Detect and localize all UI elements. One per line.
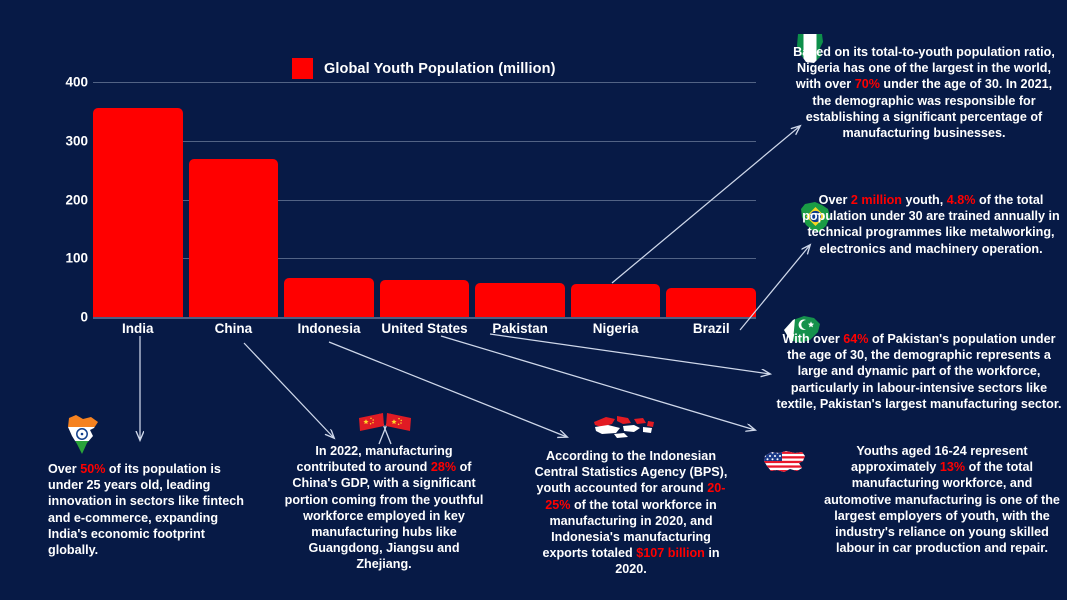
annotation-india-text: Over 50% of its population is under 25 y… — [48, 461, 258, 558]
text-run: of the total manufacturing workforce, an… — [824, 460, 1060, 555]
chart-legend: Global Youth Population (million) — [292, 58, 556, 79]
bar-column[interactable] — [284, 82, 374, 317]
x-axis-tick-label: China — [189, 321, 279, 336]
bar[interactable] — [666, 288, 756, 317]
bar[interactable] — [284, 278, 374, 317]
connector-china — [244, 343, 334, 438]
indonesia-flag-map-icon — [590, 412, 656, 442]
annotation-united-states-text: Youths aged 16-24 represent approximatel… — [820, 443, 1064, 556]
x-axis-line — [93, 317, 756, 319]
text-run: With over — [782, 332, 843, 346]
highlight-value: 4.8% — [947, 193, 976, 207]
x-axis-labels: IndiaChinaIndonesiaUnited StatesPakistan… — [93, 321, 756, 336]
y-axis-tick-label: 200 — [28, 192, 88, 207]
annotation-united-states: Youths aged 16-24 represent approximatel… — [820, 443, 1064, 556]
annotation-pakistan-text: With over 64% of Pakistan's population u… — [776, 331, 1062, 412]
text-run: In 2022, manufacturing contributed to ar… — [297, 444, 453, 474]
text-run: of China's GDP, with a significant porti… — [285, 460, 484, 571]
highlight-value: 50% — [80, 462, 105, 476]
text-run: According to the Indonesian Central Stat… — [535, 449, 728, 495]
annotation-brazil-text: Over 2 million youth, 4.8% of the total … — [800, 192, 1062, 257]
highlight-value: 2 million — [851, 193, 902, 207]
x-axis-tick-label: Indonesia — [284, 321, 374, 336]
x-axis-tick-label: United States — [380, 321, 470, 336]
india-flag-map-icon — [60, 412, 104, 458]
x-axis-tick-label: Nigeria — [571, 321, 661, 336]
bar-chart: 0100200300400 IndiaChinaIndonesiaUnited … — [0, 82, 780, 342]
chart-plot-area — [93, 82, 756, 317]
y-axis-tick-label: 400 — [28, 75, 88, 90]
bar-column[interactable] — [666, 82, 756, 317]
annotation-indonesia: According to the Indonesian Central Stat… — [527, 448, 735, 577]
highlight-value: 70% — [855, 77, 880, 91]
annotation-indonesia-text: According to the Indonesian Central Stat… — [527, 448, 735, 577]
highlight-value: 28% — [431, 460, 456, 474]
bar[interactable] — [93, 108, 183, 317]
usa-flag-map-icon — [762, 447, 808, 477]
legend-color-swatch — [292, 58, 313, 79]
text-run: Over — [819, 193, 851, 207]
annotation-china: In 2022, manufacturing contributed to ar… — [281, 443, 487, 572]
bar[interactable] — [475, 283, 565, 317]
text-run: Over — [48, 462, 80, 476]
bar[interactable] — [380, 280, 470, 317]
y-axis-tick-label: 0 — [28, 310, 88, 325]
annotation-india: Over 50% of its population is under 25 y… — [48, 461, 258, 558]
china-crossed-flags-icon — [355, 408, 415, 446]
infographic-canvas: Global Youth Population (million) 010020… — [0, 0, 1067, 600]
y-axis-tick-label: 100 — [28, 251, 88, 266]
annotation-nigeria: Based on its total-to-youth population r… — [786, 44, 1062, 141]
y-axis-tick-label: 300 — [28, 133, 88, 148]
bar-column[interactable] — [475, 82, 565, 317]
annotation-nigeria-text: Based on its total-to-youth population r… — [786, 44, 1062, 141]
annotation-china-text: In 2022, manufacturing contributed to ar… — [281, 443, 487, 572]
highlight-value: 64% — [843, 332, 868, 346]
highlight-value: 13% — [940, 460, 965, 474]
y-axis-ticks: 0100200300400 — [26, 82, 88, 317]
highlight-value: $107 billion — [636, 546, 705, 560]
bar-column[interactable] — [93, 82, 183, 317]
legend-label: Global Youth Population (million) — [324, 61, 556, 77]
bar-column[interactable] — [380, 82, 470, 317]
annotation-brazil: Over 2 million youth, 4.8% of the total … — [800, 192, 1062, 257]
x-axis-tick-label: Brazil — [666, 321, 756, 336]
bar[interactable] — [189, 159, 279, 317]
text-run: youth, — [902, 193, 947, 207]
bar-column[interactable] — [571, 82, 661, 317]
x-axis-tick-label: Pakistan — [475, 321, 565, 336]
x-axis-tick-label: India — [93, 321, 183, 336]
text-run: of its population is under 25 years old,… — [48, 462, 244, 557]
bar-column[interactable] — [189, 82, 279, 317]
bar[interactable] — [571, 284, 661, 317]
annotation-pakistan: With over 64% of Pakistan's population u… — [776, 331, 1062, 412]
